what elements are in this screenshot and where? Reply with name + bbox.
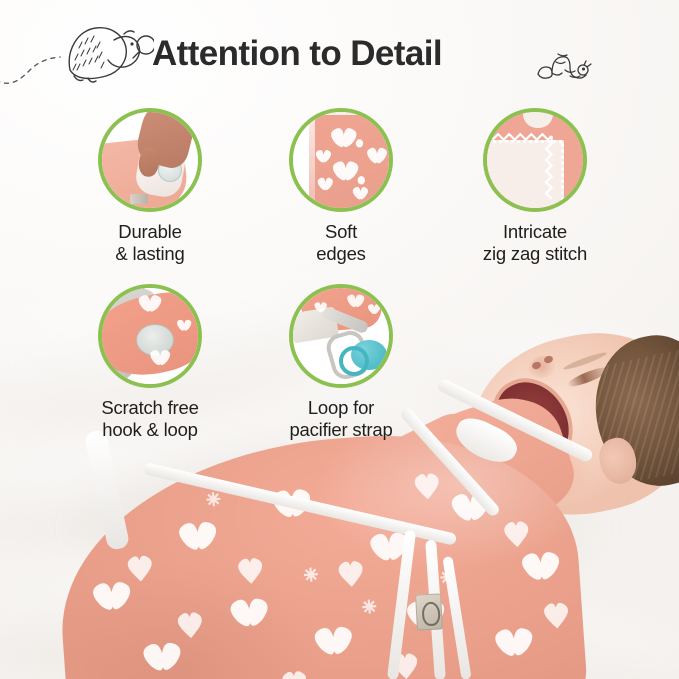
feature-caption-line1: Loop for <box>248 397 434 419</box>
zig-zag-stitch-icon <box>487 112 583 208</box>
hedgehog-with-magnifying-glass-icon <box>58 14 154 90</box>
hook-loop-photo <box>102 288 198 384</box>
feature-durable[interactable]: Durable & lasting <box>57 108 243 265</box>
hand <box>133 108 198 171</box>
swaddle-body <box>50 422 590 679</box>
feature-caption: Loop for pacifier strap <box>248 397 434 441</box>
page-title: Attention to Detail <box>152 34 442 74</box>
butterfly-print-pattern <box>102 288 198 384</box>
feature-pacifier-loop[interactable]: Loop for pacifier strap <box>248 284 434 441</box>
feature-caption-line2: hook & loop <box>57 419 243 441</box>
feature-caption-line1: Intricate <box>442 221 628 243</box>
feature-caption-line2: & lasting <box>57 243 243 265</box>
feature-caption-line1: Durable <box>57 221 243 243</box>
butterfly-print-pattern <box>293 112 389 208</box>
feature-caption: Intricate zig zag stitch <box>442 221 628 265</box>
butterfly-print-pattern <box>293 288 389 384</box>
feature-caption: Scratch free hook & loop <box>57 397 243 441</box>
feature-caption-line2: zig zag stitch <box>442 243 628 265</box>
feature-image-ring[interactable] <box>98 284 202 388</box>
product-infographic: Attention to Detail Durabl <box>0 0 679 679</box>
feature-image-ring[interactable] <box>483 108 587 212</box>
feature-caption-line1: Soft <box>248 221 434 243</box>
caterpillar-icon <box>534 42 596 84</box>
feature-caption: Soft edges <box>248 221 434 265</box>
feature-caption-line2: pacifier strap <box>248 419 434 441</box>
feature-scratch-free-hook-loop[interactable]: Scratch free hook & loop <box>57 284 243 441</box>
feature-caption-line1: Scratch free <box>57 397 243 419</box>
pacifier-loop-photo <box>293 288 389 384</box>
feature-caption-line2: edges <box>248 243 434 265</box>
durable-photo <box>102 112 198 208</box>
feature-zig-zag-stitch[interactable]: Intricate zig zag stitch <box>442 108 628 265</box>
swaddle-shading <box>50 422 590 679</box>
feature-image-ring[interactable] <box>289 284 393 388</box>
care-tag <box>130 194 148 204</box>
soft-edges-photo <box>293 112 389 208</box>
zig-zag-photo <box>487 112 583 208</box>
feature-caption: Durable & lasting <box>57 221 243 265</box>
feature-soft-edges[interactable]: Soft edges <box>248 108 434 265</box>
brand-fabric-tag <box>415 593 443 630</box>
feature-image-ring[interactable] <box>289 108 393 212</box>
feature-image-ring[interactable] <box>98 108 202 212</box>
